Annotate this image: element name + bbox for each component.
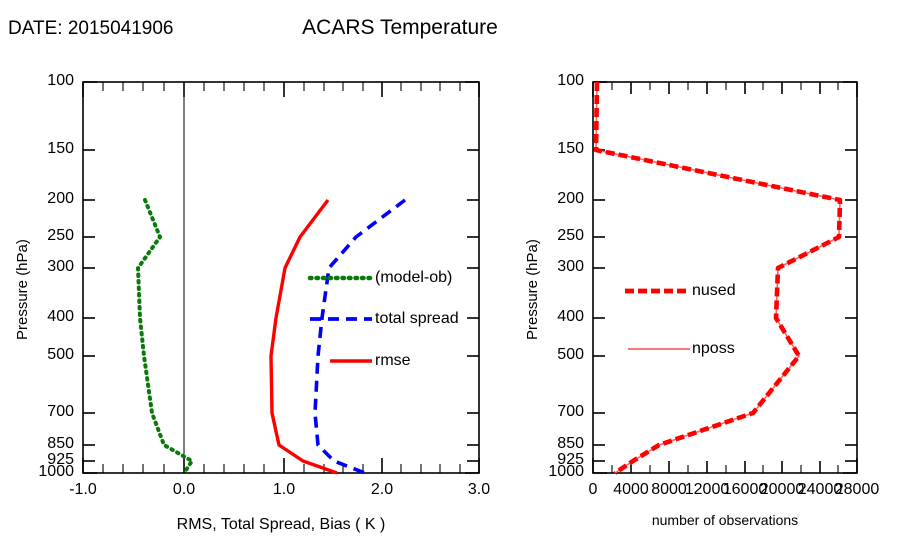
- right-ytick-200: 200: [532, 190, 584, 208]
- left-xtick-1: 1.0: [254, 481, 314, 499]
- series-total-spread: [315, 200, 405, 473]
- left-ytick-500: 500: [22, 346, 74, 364]
- left-xtick-3: 3.0: [449, 481, 509, 499]
- legend-label-nused: nused: [692, 282, 736, 300]
- legend-label-rmse: rmse: [375, 352, 411, 370]
- right-x-ticks: [593, 82, 857, 473]
- right-ytick-1000: 1000: [524, 463, 584, 481]
- legend-label-nposs: nposs: [692, 340, 735, 358]
- right-x-minor-ticks: [612, 82, 838, 473]
- left-xtick-neg1: -1.0: [53, 481, 113, 499]
- right-ytick-100: 100: [532, 72, 584, 90]
- right-xtick-0: 0: [573, 481, 613, 499]
- left-ytick-100: 100: [22, 72, 74, 90]
- right-ytick-150: 150: [532, 140, 584, 158]
- left-ytick-700: 700: [22, 403, 74, 421]
- left-ytick-200: 200: [22, 190, 74, 208]
- right-y-ticks: [593, 82, 857, 473]
- left-y-axis-label: Pressure (hPa): [14, 239, 31, 340]
- left-xtick-2: 2.0: [352, 481, 412, 499]
- left-ytick-150: 150: [22, 140, 74, 158]
- right-panel-frame: [593, 82, 857, 473]
- right-ytick-500: 500: [532, 346, 584, 364]
- legend-label-model-ob: (model-ob): [375, 269, 452, 287]
- series-nposs: [596, 82, 840, 473]
- left-ytick-1000: 1000: [14, 463, 74, 481]
- series-nused: [596, 82, 840, 473]
- right-ytick-700: 700: [532, 403, 584, 421]
- legend-label-total-spread: total spread: [375, 310, 459, 328]
- right-x-axis-label: number of observations: [593, 512, 857, 528]
- series-rmse: [271, 200, 337, 473]
- left-x-axis-label: RMS, Total Spread, Bias ( K ): [83, 516, 479, 534]
- right-panel-axes: [593, 82, 857, 473]
- left-xtick-0: 0.0: [154, 481, 214, 499]
- right-xtick-28000: 28000: [831, 481, 883, 499]
- right-y-axis-label: Pressure (hPa): [524, 239, 541, 340]
